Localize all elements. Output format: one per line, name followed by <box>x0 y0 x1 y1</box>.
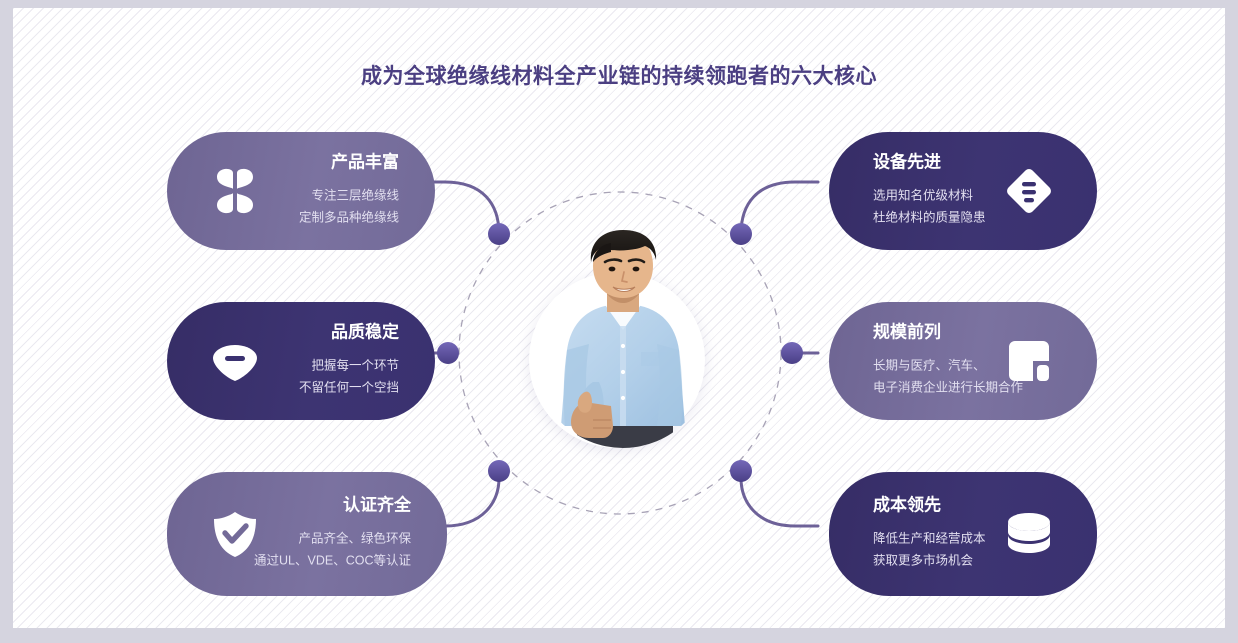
clover-icon <box>209 165 261 217</box>
card-quality-stable[interactable]: 品质稳定 把握每一个环节 不留任何一个空挡 <box>167 302 435 420</box>
wire-right-bottom <box>741 478 818 526</box>
card-title: 成本领先 <box>873 496 986 515</box>
card-line-1: 降低生产和经营成本 <box>873 527 986 549</box>
card-text-block: 认证齐全 产品齐全、绿色环保 通过UL、VDE、COC等认证 <box>254 496 411 571</box>
card-line-2: 电子消费企业进行长期合作 <box>873 376 1023 398</box>
node-mid-right[interactable] <box>781 342 803 364</box>
card-equipment-advanced[interactable]: 设备先进 选用知名优级材料 杜绝材料的质量隐患 <box>829 132 1097 250</box>
card-text-block: 品质稳定 把握每一个环节 不留任何一个空挡 <box>299 323 399 398</box>
card-title: 设备先进 <box>873 153 986 172</box>
node-bottom-left[interactable] <box>488 460 510 482</box>
card-title: 品质稳定 <box>299 323 399 342</box>
card-product-rich[interactable]: 产品丰富 专注三层绝缘线 定制多品种绝缘线 <box>167 132 435 250</box>
card-text-block: 规模前列 长期与医疗、汽车、 电子消费企业进行长期合作 <box>873 323 1023 398</box>
card-title: 认证齐全 <box>254 496 411 515</box>
node-mid-left[interactable] <box>437 342 459 364</box>
card-title: 产品丰富 <box>299 153 399 172</box>
person-thumbsup-illustration <box>507 226 739 458</box>
card-scale-leading[interactable]: 规模前列 长期与医疗、汽车、 电子消费企业进行长期合作 <box>829 302 1097 420</box>
node-bottom-right[interactable] <box>730 460 752 482</box>
card-line-2: 杜绝材料的质量隐患 <box>873 206 986 228</box>
card-line-1: 把握每一个环节 <box>299 354 399 376</box>
page-title: 成为全球绝缘线材料全产业链的持续领跑者的六大核心 <box>13 60 1225 90</box>
slide-stage: 成为全球绝缘线材料全产业链的持续领跑者的六大核心 <box>0 0 1238 643</box>
card-line-1: 选用知名优级材料 <box>873 184 986 206</box>
card-text-block: 产品丰富 专注三层绝缘线 定制多品种绝缘线 <box>299 153 399 228</box>
card-title: 规模前列 <box>873 323 1023 342</box>
diamond-bars-icon <box>1003 165 1055 217</box>
database-icon <box>1003 508 1055 560</box>
slide-canvas: 成为全球绝缘线材料全产业链的持续领跑者的六大核心 <box>13 8 1225 628</box>
card-line-2: 获取更多市场机会 <box>873 549 986 571</box>
card-line-1: 产品齐全、绿色环保 <box>254 527 411 549</box>
card-line-2: 通过UL、VDE、COC等认证 <box>254 549 411 571</box>
wire-right-top <box>741 182 818 234</box>
card-line-1: 长期与医疗、汽车、 <box>873 354 1023 376</box>
card-certification-complete[interactable]: 认证齐全 产品齐全、绿色环保 通过UL、VDE、COC等认证 <box>167 472 447 596</box>
card-line-2: 不留任何一个空挡 <box>299 376 399 398</box>
card-text-block: 设备先进 选用知名优级材料 杜绝材料的质量隐患 <box>873 153 986 228</box>
center-photo <box>507 226 739 458</box>
card-cost-leading[interactable]: 成本领先 降低生产和经营成本 获取更多市场机会 <box>829 472 1097 596</box>
gem-minus-icon <box>209 335 261 387</box>
card-line-2: 定制多品种绝缘线 <box>299 206 399 228</box>
card-text-block: 成本领先 降低生产和经营成本 获取更多市场机会 <box>873 496 986 571</box>
card-line-1: 专注三层绝缘线 <box>299 184 399 206</box>
